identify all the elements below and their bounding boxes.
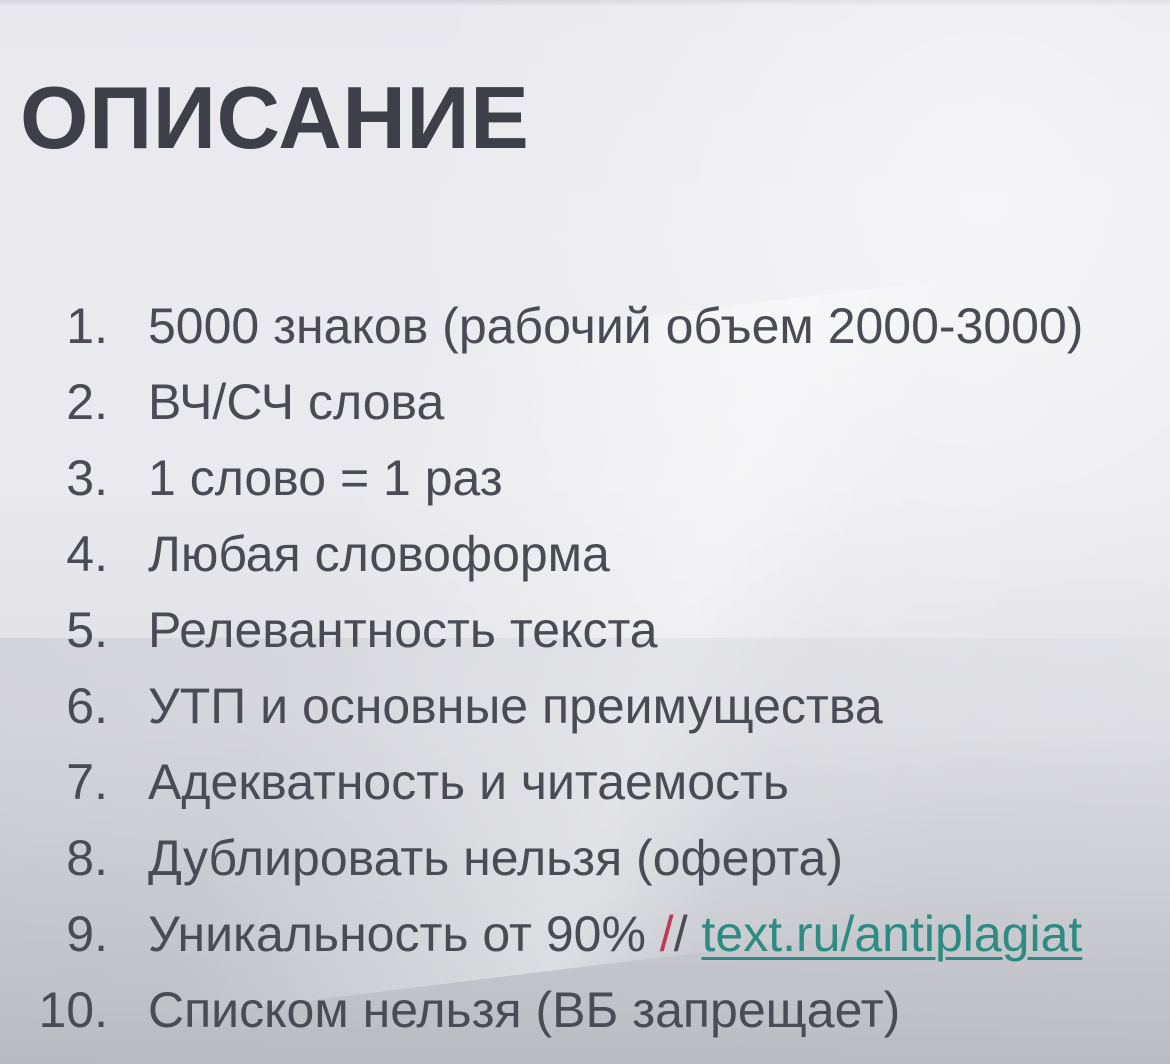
list-item-text: 5000 знаков (рабочий объем 2000-3000)	[148, 296, 1083, 356]
separator-space	[688, 906, 702, 962]
list-item-text: УТП и основные преимущества	[148, 676, 883, 736]
list-item-number: 8.	[0, 828, 108, 888]
slide-content: ОПИСАНИЕ 1. 5000 знаков (рабочий объем 2…	[0, 0, 1170, 1064]
list-item-number: 7.	[0, 752, 108, 812]
list-item-number: 2.	[0, 372, 108, 432]
list-item: 6. УТП и основные преимущества	[0, 676, 1170, 752]
list-item-number: 1.	[0, 296, 108, 356]
antiplagiat-link[interactable]: text.ru/antiplagiat	[702, 906, 1083, 962]
list-item: 4. Любая словоформа	[0, 524, 1170, 600]
list-item-number: 10.	[0, 980, 108, 1040]
list-item-uniqueness: 9. Уникальность от 90% // text.ru/antipl…	[0, 904, 1170, 980]
list-item-text: Адекватность и читаемость	[148, 752, 789, 812]
list-item-number: 9.	[0, 904, 108, 964]
list-item: 10. Списком нельзя (ВБ запрещает)	[0, 980, 1170, 1056]
list-item-text: Релевантность текста	[148, 600, 658, 660]
slide-canvas: ОПИСАНИЕ 1. 5000 знаков (рабочий объем 2…	[0, 0, 1170, 1064]
uniqueness-label: Уникальность от 90%	[148, 906, 660, 962]
list-item-text: Уникальность от 90% // text.ru/antiplagi…	[148, 904, 1082, 964]
list-item-text: ВЧ/СЧ слова	[148, 372, 444, 432]
separator-slash-dark: /	[674, 906, 688, 962]
list-item: 2. ВЧ/СЧ слова	[0, 372, 1170, 448]
slide-title: ОПИСАНИЕ	[20, 74, 529, 162]
list-item-number: 5.	[0, 600, 108, 660]
list-item: 3. 1 слово = 1 раз	[0, 448, 1170, 524]
list-item: 5. Релевантность текста	[0, 600, 1170, 676]
list-item-number: 6.	[0, 676, 108, 736]
list-item: 1. 5000 знаков (рабочий объем 2000-3000)	[0, 296, 1170, 372]
list-item-text: Дублировать нельзя (оферта)	[148, 828, 843, 888]
list-item: 8. Дублировать нельзя (оферта)	[0, 828, 1170, 904]
separator-slash-red: /	[660, 906, 674, 962]
list-item-number: 3.	[0, 448, 108, 508]
list-item-number: 4.	[0, 524, 108, 584]
list-item-text: Списком нельзя (ВБ запрещает)	[148, 980, 900, 1040]
list-item: 7. Адекватность и читаемость	[0, 752, 1170, 828]
list-item-text: 1 слово = 1 раз	[148, 448, 503, 508]
numbered-list: 1. 5000 знаков (рабочий объем 2000-3000)…	[0, 296, 1170, 1056]
list-item-text: Любая словоформа	[148, 524, 610, 584]
